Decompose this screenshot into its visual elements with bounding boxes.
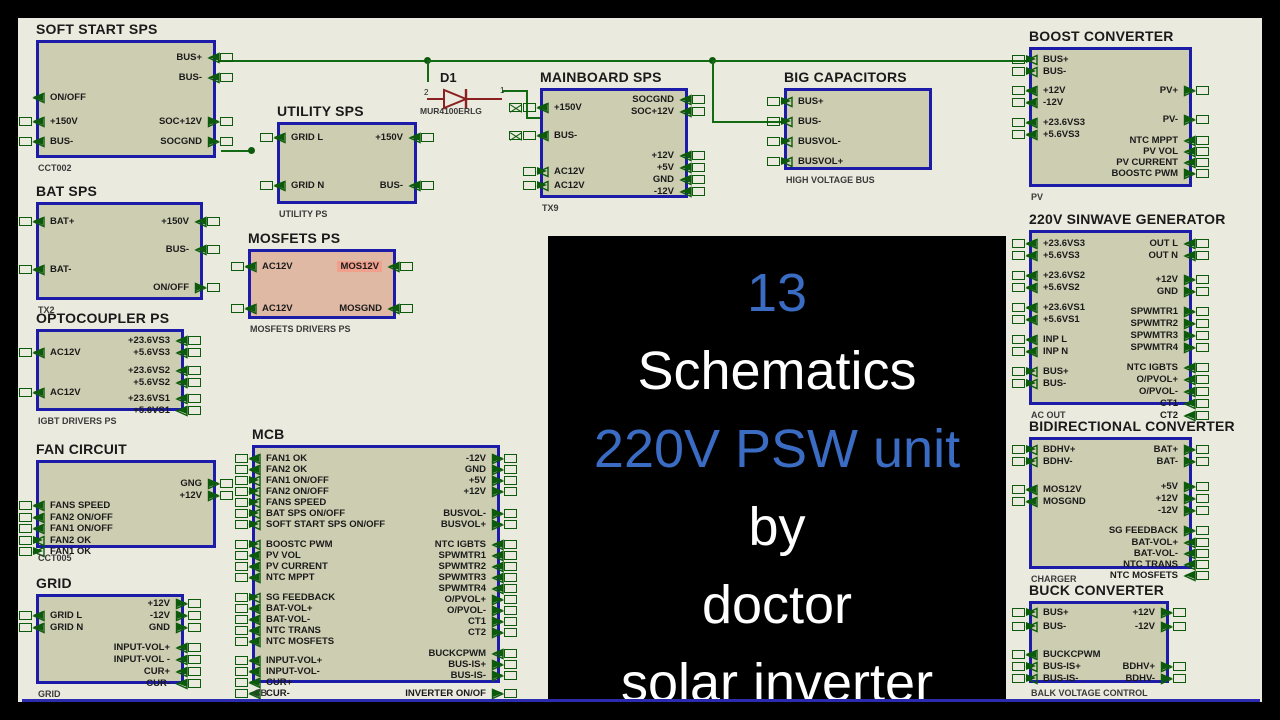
pin-pad [235,454,248,463]
pin-pad [767,97,780,106]
pin-left[interactable]: BUS+ [1029,607,1069,618]
pin-right[interactable]: INVERTER ON/OF [405,688,500,699]
pin-label: SPWMTR4 [1131,342,1179,353]
pin-left[interactable]: NTC MPPT [252,572,315,583]
pin-right[interactable]: ON/OFF [153,282,203,293]
pin-right[interactable]: O/PVOL- [447,605,500,616]
pin-left[interactable]: BUS+ [784,96,824,107]
pin-label: INP N [1043,346,1068,357]
pin-right[interactable]: -12V [150,610,184,621]
pin-right[interactable]: OUT L [1150,238,1193,249]
pin-right[interactable]: +23.6VS1 [128,393,184,404]
pin-arrow-icon [249,509,260,518]
pin-right[interactable]: SPWMTR4 [439,583,501,594]
pin-label: SPWMTR3 [439,572,487,583]
pin-left[interactable]: AC12V [248,261,293,272]
block-title: MAINBOARD SPS [540,69,662,85]
pin-arrow-icon [208,73,219,82]
pin-right[interactable]: BAT- [1157,456,1192,467]
pin-pad [1196,506,1209,515]
pin-label: NTC IGBTS [1127,362,1178,373]
title-overlay: 13Schematics220V PSW unitbydoctorsolar i… [548,236,1006,702]
block-buck-converter[interactable]: BUCK CONVERTERBUS+BUS-BUCKCPWMBUS-IS+BUS… [1029,601,1169,683]
pin-label: FAN2 ON/OFF [266,486,329,497]
pin-label: BDHV+ [1043,444,1075,455]
wire-d1-out [502,90,528,92]
pin-pad [1012,303,1025,312]
pin-left[interactable]: +5.6VS3 [1029,250,1080,261]
pin-right[interactable]: +12V [652,150,688,161]
pin-left[interactable]: FAN2 OK [252,464,307,475]
pin-left[interactable]: GRID L [277,132,323,143]
pin-label: CUR+ [144,666,170,677]
pin-right[interactable]: +5.6VS3 [133,347,184,358]
pin-pad [504,584,517,593]
pin-pad [19,137,32,146]
pin-pad [188,643,201,652]
pin-pad [504,509,517,518]
pin-left[interactable]: FAN1 ON/OFF [36,523,113,534]
pin-arrow-icon [1026,367,1037,376]
pin-right[interactable]: CT1 [1160,398,1192,409]
pin-pad [1196,287,1209,296]
pin-right[interactable]: +12V [464,486,500,497]
pin-pad [1012,271,1025,280]
pin-arrow-icon [1184,115,1195,124]
pin-left[interactable]: SG FEEDBACK [252,592,335,603]
pin-left[interactable]: SOFT START SPS ON/OFF [252,519,385,530]
pin-label: BAT-VOL- [266,614,310,625]
pin-label: BUS+ [1043,54,1069,65]
pin-right[interactable]: SOC+12V [631,106,688,117]
pin-left[interactable]: INP N [1029,346,1068,357]
pin-pad [235,551,248,560]
pin-right[interactable]: OUT N [1148,250,1192,261]
pin-left[interactable]: +5.6VS3 [1029,129,1080,140]
pin-left[interactable]: +23.6VS2 [1029,270,1085,281]
pin-right[interactable]: SG FEEDBACK [1109,525,1192,536]
pin-arrow-icon [680,175,691,184]
pin-right[interactable]: INPUT-VOL+ [114,642,184,653]
pin-arrow-icon [1184,147,1195,156]
pin-left[interactable]: FAN2 ON/OFF [36,512,113,523]
pin-label: NTC MOSFETS [266,636,334,647]
pin-pad [504,454,517,463]
pin-left[interactable]: INPUT-VOL- [252,666,320,677]
pin-right[interactable]: +5V [1161,481,1192,492]
pin-label: NTC MOSFETS [1110,570,1178,581]
pin-label: FAN2 ON/OFF [50,512,113,523]
block-mainboard-sps[interactable]: MAINBOARD SPS+150VBUS-AC12VAC12VSOCGNDSO… [540,88,688,198]
pin-pad [1196,482,1209,491]
pin-right[interactable]: SPWMTR2 [439,561,501,572]
pin-arrow-icon [249,551,260,560]
pin-right[interactable]: BUS- [179,72,216,83]
pin-left[interactable]: +5.6VS2 [1029,282,1080,293]
pin-label: BUS- [798,116,821,127]
pin-arrow-icon [1184,399,1195,408]
pin-right[interactable]: INPUT-VOL - [114,654,184,665]
pin-label: +23.6VS2 [1043,270,1085,281]
pin-left[interactable]: PV VOL [252,550,301,561]
pin-left[interactable]: BUS- [540,130,577,141]
pin-label: FAN2 OK [50,535,91,546]
block-reference: IGBT DRIVERS PS [38,416,117,426]
pin-pad [235,656,248,665]
pin-label: BUS- [554,130,577,141]
pin-label: +5V [657,162,674,173]
block-bat-sps[interactable]: BAT SPSBAT+BAT-+150VBUS-ON/OFFTX2 [36,202,203,300]
pin-left[interactable]: +23.6VS3 [1029,117,1085,128]
pin-pad [19,524,32,533]
pin-left[interactable]: BOOSTC PWM [252,539,333,550]
wire-bus-top-right [427,60,713,62]
pin-left[interactable]: BAT SPS ON/OFF [252,508,345,519]
pin-label: BDHV- [1125,673,1155,684]
pin-label: BUCKCPWM [428,648,486,659]
pin-right[interactable]: NTC MOSFETS [1110,570,1192,581]
pin-right[interactable]: BUSVOL- [443,508,500,519]
pin-right[interactable]: BUS+ [176,52,216,63]
pin-right[interactable]: GNG [180,478,216,489]
block-title: MCB [252,426,284,442]
pin-left[interactable]: FANS SPEED [252,497,326,508]
pin-right[interactable]: GND [149,622,184,633]
pin-right[interactable]: GND [1157,286,1192,297]
pin-right[interactable]: SPWMTR1 [1131,306,1193,317]
pin-arrow-icon [537,167,548,176]
pin-left[interactable]: +5.6VS1 [1029,314,1080,325]
pin-right[interactable]: MOS12V [337,261,396,272]
pin-right[interactable]: SPWMTR4 [1131,342,1193,353]
pin-right[interactable]: O/PVOL+ [1137,374,1192,385]
pin-right[interactable]: SOCGND [160,136,216,147]
pin-right[interactable]: SPWMTR3 [1131,330,1193,341]
pin-right[interactable]: GND [465,464,500,475]
pin-left[interactable]: BUCKCPWM [1029,649,1101,660]
pin-right[interactable]: PV- [1163,114,1192,125]
pin-right[interactable]: -12V [654,186,688,197]
pin-left[interactable]: AC12V [36,387,81,398]
pin-right[interactable]: +5.6VS1 [133,405,184,416]
pin-label: +12V [652,150,674,161]
pin-label: SG FEEDBACK [1109,525,1178,536]
pin-arrow-icon [1026,303,1037,312]
pin-left[interactable]: AC12V [540,180,585,191]
pin-right[interactable]: +23.6VS2 [128,365,184,376]
pin-arrow-icon [1161,674,1172,683]
pin-label: +23.6VS1 [1043,302,1085,313]
pin-right[interactable]: +5V [657,162,688,173]
pin-pad [767,137,780,146]
pin-right[interactable]: BUS-IS+ [448,659,500,670]
pin-right[interactable]: NTC IGBTS [1127,362,1192,373]
pin-left[interactable]: INP L [1029,334,1067,345]
pin-pad [1196,251,1209,260]
pin-left[interactable]: BAT-VOL+ [252,603,313,614]
pin-label: +23.6VS3 [128,335,170,346]
pin-pad [19,513,32,522]
pin-left[interactable]: BDHV- [1029,456,1073,467]
pin-right[interactable]: BUS- [166,244,203,255]
pin-pad [504,540,517,549]
pin-left[interactable]: BUS+ [1029,54,1069,65]
pin-right[interactable]: BOOSTC PWM [1112,168,1193,179]
pin-right[interactable]: +5.6VS2 [133,377,184,388]
pin-right[interactable]: PV+ [1160,85,1192,96]
block-mosfets-ps[interactable]: MOSFETS PSAC12VAC12VMOS12VMOSGNDMOSFETS … [248,249,396,319]
pin-pad [231,304,244,313]
pin-pad [231,262,244,271]
pin-left[interactable]: +23.6VS1 [1029,302,1085,313]
pin-right[interactable]: CUR+ [144,666,184,677]
pin-label: INPUT-VOL+ [266,655,322,666]
pin-left[interactable]: FAN2 OK [36,535,91,546]
pin-pad [235,667,248,676]
pin-arrow-icon [680,95,691,104]
pin-arrow-icon [492,465,503,474]
block-optocoupler-ps[interactable]: OPTOCOUPLER PSAC12VAC12V+23.6VS3+5.6VS3+… [36,329,184,411]
pin-pad [1196,319,1209,328]
pin-left[interactable]: NTC TRANS [252,625,321,636]
pin-right[interactable]: SPWMTR3 [439,572,501,583]
pin-right[interactable]: SOCGND [632,94,688,105]
pin-arrow-icon [1026,674,1037,683]
pin-arrow-icon [33,623,44,632]
block-utility-sps[interactable]: UTILITY SPSGRID LGRID N+150VBUS-UTILITY … [277,122,417,204]
pin-arrow-icon [1184,494,1195,503]
pin-left[interactable]: NTC MOSFETS [252,636,334,647]
pin-left[interactable]: +23.6VS3 [1029,238,1085,249]
pin-right[interactable]: CUR- [146,678,184,689]
pin-right[interactable]: NTC MPPT [1129,135,1192,146]
pin-pad [1196,331,1209,340]
overlay-line-4: doctor [702,566,852,644]
pin-left[interactable]: INPUT-VOL+ [252,655,322,666]
pin-left[interactable]: BUS-IS+ [1029,661,1081,672]
pin-left[interactable]: GRID L [36,610,82,621]
pin-left[interactable]: BUS- [784,116,821,127]
pin-left[interactable]: GRID N [36,622,83,633]
pin-right[interactable]: +12V [1156,493,1192,504]
pin-arrow-icon [176,611,187,620]
pin-right[interactable]: CT2 [468,627,500,638]
pin-arrow-icon [33,217,44,226]
pin-pad [235,604,248,613]
pin-pad [523,103,536,112]
wire-socgnd [221,150,251,152]
pin-left[interactable]: BAT+ [36,216,74,227]
pin-left[interactable]: BUSVOL- [784,136,841,147]
pin-right[interactable]: BAT-VOL- [1134,548,1192,559]
pin-left[interactable]: AC12V [248,303,293,314]
pin-arrow-icon [245,262,256,271]
pin-arrow-icon [249,667,260,676]
pin-right[interactable]: +150V [161,216,203,227]
pin-pad [504,562,517,571]
pin-right[interactable]: +12V [1156,274,1192,285]
pin-left[interactable]: AC12V [540,166,585,177]
pin-label: FAN1 ON/OFF [50,523,113,534]
pin-label: AC12V [262,261,293,272]
pin-left[interactable]: BUS- [1029,378,1066,389]
pin-arrow-icon [249,637,260,646]
pin-left[interactable]: BUS- [1029,66,1066,77]
pin-right[interactable]: NTC IGBTS [435,539,500,550]
block-sinwave-generator[interactable]: 220V SINWAVE GENERATOR+23.6VS3+5.6VS3+23… [1029,230,1192,405]
pin-right[interactable]: BDHV+ [1123,661,1169,672]
pin-left[interactable]: BUS+ [1029,366,1069,377]
pin-arrow-icon [537,131,548,140]
pin-arrow-icon [492,509,503,518]
pin-left[interactable]: BUSVOL+ [784,156,843,167]
pin-pad [188,348,201,357]
pin-right[interactable]: SPWMTR2 [1131,318,1193,329]
pin-left[interactable]: MOS12V [1029,484,1082,495]
pin-right[interactable]: +23.6VS3 [128,335,184,346]
pin-left[interactable]: +12V [1029,85,1065,96]
pin-right[interactable]: +12V [1133,607,1169,618]
pin-right[interactable]: MOSGND [339,303,396,314]
pin-left[interactable]: MOSGND [1029,496,1086,507]
pin-label: NTC MPPT [266,572,315,583]
pin-arrow-icon [176,394,187,403]
pin-pad [220,491,233,500]
pin-right[interactable]: BUS- [380,180,417,191]
pin-left[interactable]: BUS- [36,136,73,147]
pin-right[interactable]: +12V [148,598,184,609]
pin-pad [188,667,201,676]
pin-label: INVERTER ON/OF [405,688,486,699]
pin-right[interactable]: +12V [180,490,216,501]
block-title: BAT SPS [36,183,97,199]
pin-label: +150V [375,132,403,143]
block-grid[interactable]: GRIDGRID LGRID N+12V-12VGNDINPUT-VOL+INP… [36,594,184,684]
pin-right[interactable]: SPWMTR1 [439,550,501,561]
block-mcb[interactable]: MCBFAN1 OKFAN2 OKFAN1 ON/OFFFAN2 ON/OFFF… [252,445,500,683]
pin-label: BUS- [50,136,73,147]
pin-right[interactable]: BUSVOL+ [441,519,500,530]
pin-right[interactable]: -12V [466,453,500,464]
pin-right[interactable]: +150V [375,132,417,143]
pin-left[interactable]: FANS SPEED [36,500,110,511]
pin-right[interactable]: GND [653,174,688,185]
pin-arrow-icon [1184,375,1195,384]
pin-left[interactable]: BDHV+ [1029,444,1075,455]
pin-arrow-icon [1026,130,1037,139]
pin-left[interactable]: FAN2 ON/OFF [252,486,329,497]
pin-left[interactable]: PV CURRENT [252,561,328,572]
pin-right[interactable]: O/PVOL+ [445,594,500,605]
pin-arrow-icon [781,137,792,146]
block-soft-start-sps[interactable]: SOFT START SPSON/OFF+150VBUS-BUS+BUS-SOC… [36,40,216,158]
pin-arrow-icon [33,524,44,533]
pin-right[interactable]: PV VOL [1143,146,1192,157]
pin-left[interactable]: -12V [1029,97,1063,108]
pin-right[interactable]: BUCKCPWM [428,648,500,659]
block-boost-converter[interactable]: BOOST CONVERTERBUS+BUS-+12V-12V+23.6VS3+… [1029,47,1192,187]
pin-right[interactable]: PV CURRENT [1116,157,1192,168]
pin-left[interactable]: BUS- [1029,621,1066,632]
pin-left[interactable]: ON/OFF [36,92,86,103]
pin-label: CT2 [468,627,486,638]
pin-right[interactable]: O/PVOL- [1139,386,1192,397]
block-big-capacitors[interactable]: BIG CAPACITORSBUS+BUS-BUSVOL-BUSVOL+HIGH… [784,88,932,170]
pin-right[interactable]: -12V [1135,621,1169,632]
pin-label: +5.6VS3 [133,347,170,358]
pin-right[interactable]: BDHV- [1125,673,1169,684]
pin-right[interactable]: BAT-VOL+ [1131,537,1192,548]
pin-arrow-icon [1026,457,1037,466]
pin-left[interactable]: +150V [36,116,78,127]
pin-right[interactable]: -12V [1158,505,1192,516]
pin-pad [188,655,201,664]
pin-pad [220,117,233,126]
pin-arrow-icon [176,336,187,345]
pin-right[interactable]: SOC+12V [159,116,216,127]
pin-pad [1012,445,1025,454]
pin-arrow-icon [208,137,219,146]
pin-right[interactable]: +5V [469,475,500,486]
pin-label: PV CURRENT [266,561,328,572]
pin-arrow-icon [492,606,503,615]
pin-right[interactable]: CT1 [468,616,500,627]
pin-label: O/PVOL+ [445,594,486,605]
pin-pad [19,117,32,126]
pin-right[interactable]: BUS-IS- [451,670,500,681]
pin-left[interactable]: BAT-VOL- [252,614,310,625]
pin-pad [692,95,705,104]
pin-left[interactable]: BAT- [36,264,71,275]
pin-arrow-icon [176,655,187,664]
pin-left[interactable]: BUS-IS- [1029,673,1078,684]
pin-label: BUSVOL- [798,136,841,147]
pin-left[interactable]: FAN1 OK [252,453,307,464]
pin-label: SG FEEDBACK [266,592,335,603]
pin-pad [19,501,32,510]
pin-label: +23.6VS3 [1043,238,1085,249]
pin-label: BUS- [1043,378,1066,389]
block-fan-circuit[interactable]: FAN CIRCUITFANS SPEEDFAN2 ON/OFFFAN1 ON/… [36,460,216,548]
pin-label: BUS- [1043,621,1066,632]
pin-pad [523,131,536,140]
pin-left[interactable]: +150V [540,102,582,113]
pin-right[interactable]: NTC TRANS [1123,559,1192,570]
pin-pad [421,133,434,142]
pin-left[interactable]: CUR+ [252,677,292,688]
pin-label: CUR+ [266,677,292,688]
block-title: MOSFETS PS [248,230,340,246]
bottom-rule [22,699,1260,702]
pin-left[interactable]: GRID N [277,180,324,191]
pin-pad [504,465,517,474]
pin-right[interactable]: BAT+ [1154,444,1192,455]
pin-left[interactable]: FAN1 ON/OFF [252,475,329,486]
pin-arrow-icon [1184,169,1195,178]
pin-arrow-icon [492,562,503,571]
pin-pad [1012,662,1025,671]
pin-arrow-icon [409,133,420,142]
pin-pad [188,378,201,387]
overlay-line-3: by [748,488,805,566]
schematic-canvas[interactable]: D1 2 1 MUR4100ERLG SOFT START SPSON/OFF+… [18,18,1262,702]
pin-pad [235,637,248,646]
block-bidirectional-converter[interactable]: BIDIRECTIONAL CONVERTERBDHV+BDHV-MOS12VM… [1029,437,1192,569]
pin-left[interactable]: AC12V [36,347,81,358]
pin-pad [188,406,201,415]
diode-label: D1 [440,70,457,85]
pin-pad [504,520,517,529]
